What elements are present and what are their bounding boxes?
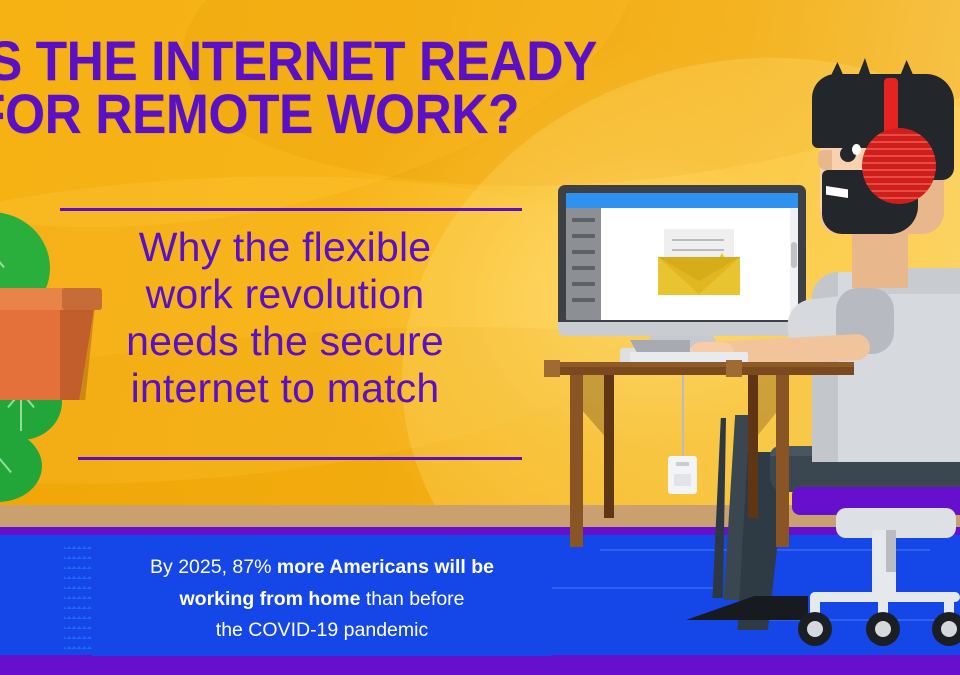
- chair-caster: [866, 612, 900, 646]
- infographic-canvas: IS THE INTERNET READY FOR REMOTE WORK? W…: [0, 0, 960, 675]
- desk-top-highlight: [544, 362, 854, 367]
- divider-top: [60, 208, 522, 211]
- subtitle-line-3: needs the secure: [40, 318, 530, 365]
- page-subtitle: Why the flexible work revolution needs t…: [40, 224, 530, 413]
- scrollbar-track[interactable]: [790, 208, 798, 320]
- email-app-titlebar: [566, 193, 798, 208]
- power-cable: [682, 375, 684, 456]
- stat-line-1-plain: By 2025, 87%: [150, 556, 277, 578]
- stat-line-3: the COVID-19 pandemic: [92, 615, 552, 647]
- person-nose: [818, 150, 832, 170]
- monitor-chin: [558, 322, 806, 336]
- chair-caster: [932, 612, 960, 646]
- divider-bottom: [78, 457, 522, 460]
- envelope-icon: [658, 229, 740, 295]
- subtitle-line-1: Why the flexible: [40, 224, 530, 271]
- power-adapter-slot: [676, 462, 689, 466]
- subtitle-line-4: internet to match: [40, 365, 530, 412]
- monitor-screen: [566, 193, 798, 320]
- desk-edge-cap: [544, 360, 560, 377]
- power-adapter-pin: [674, 474, 691, 486]
- person-eye-highlight: [852, 144, 861, 155]
- desk-leg-front: [570, 375, 583, 547]
- subtitle-line-2: work revolution: [40, 271, 530, 318]
- desk-edge-cap: [726, 360, 742, 377]
- chair-caster: [798, 612, 832, 646]
- chair-gas-cylinder-shadow: [886, 530, 896, 572]
- chair-base-plate: [836, 508, 956, 538]
- scrollbar-thumb[interactable]: [791, 242, 797, 268]
- email-app-sidebar: [566, 208, 601, 320]
- headphones-earcup-icon: [862, 128, 936, 204]
- stat-line-2-plain: than before: [360, 588, 464, 610]
- stat-line-2-bold: working from home: [179, 588, 360, 610]
- stat-line-1-bold: more Americans will be: [277, 556, 494, 578]
- page-title: IS THE INTERNET READY FOR REMOTE WORK?: [0, 34, 692, 140]
- plant-leaf: [0, 430, 42, 502]
- desk-leg-front: [776, 375, 789, 547]
- desk-leg-back: [748, 375, 758, 518]
- zigzag-decoration-icon: [64, 544, 94, 652]
- stat-line-1: By 2025, 87% more Americans will be: [92, 552, 552, 584]
- stat-line-2: working from home than before: [92, 584, 552, 616]
- stat-banner-text: By 2025, 87% more Americans will be work…: [92, 552, 552, 647]
- headline-line-2: FOR REMOTE WORK?: [0, 87, 692, 140]
- desk-leg-back: [604, 375, 614, 518]
